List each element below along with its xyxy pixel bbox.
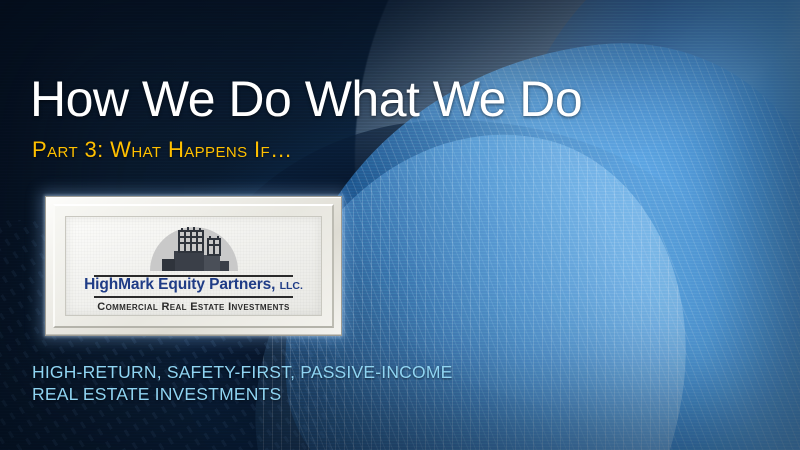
presentation-slide: How We Do What We Do Part 3: What Happen… [0,0,800,450]
plaque-bevel-frame: HighMark Equity Partners, LLC. Commercia… [53,204,334,328]
plaque-inner-panel: HighMark Equity Partners, LLC. Commercia… [65,216,322,316]
logo-company-suffix: LLC. [280,280,303,292]
slide-subtitle: Part 3: What Happens If… [32,139,292,161]
slide-title: How We Do What We Do [30,74,582,124]
logo-descriptor: Commercial Real Estate Investments [66,301,321,313]
construction-building-icon [138,225,250,273]
slide-tagline: HIGH-RETURN, SAFETY-FIRST, PASSIVE-INCOM… [32,361,452,405]
logo-company-name: HighMark Equity Partners, LLC. [66,276,321,294]
tagline-line-1: HIGH-RETURN, SAFETY-FIRST, PASSIVE-INCOM… [32,361,452,383]
logo-plaque: HighMark Equity Partners, LLC. Commercia… [45,196,342,336]
logo-company-name-text: HighMark Equity Partners, [84,276,275,293]
logo-rule-bottom [94,296,293,298]
tagline-line-2: REAL ESTATE INVESTMENTS [32,383,452,405]
